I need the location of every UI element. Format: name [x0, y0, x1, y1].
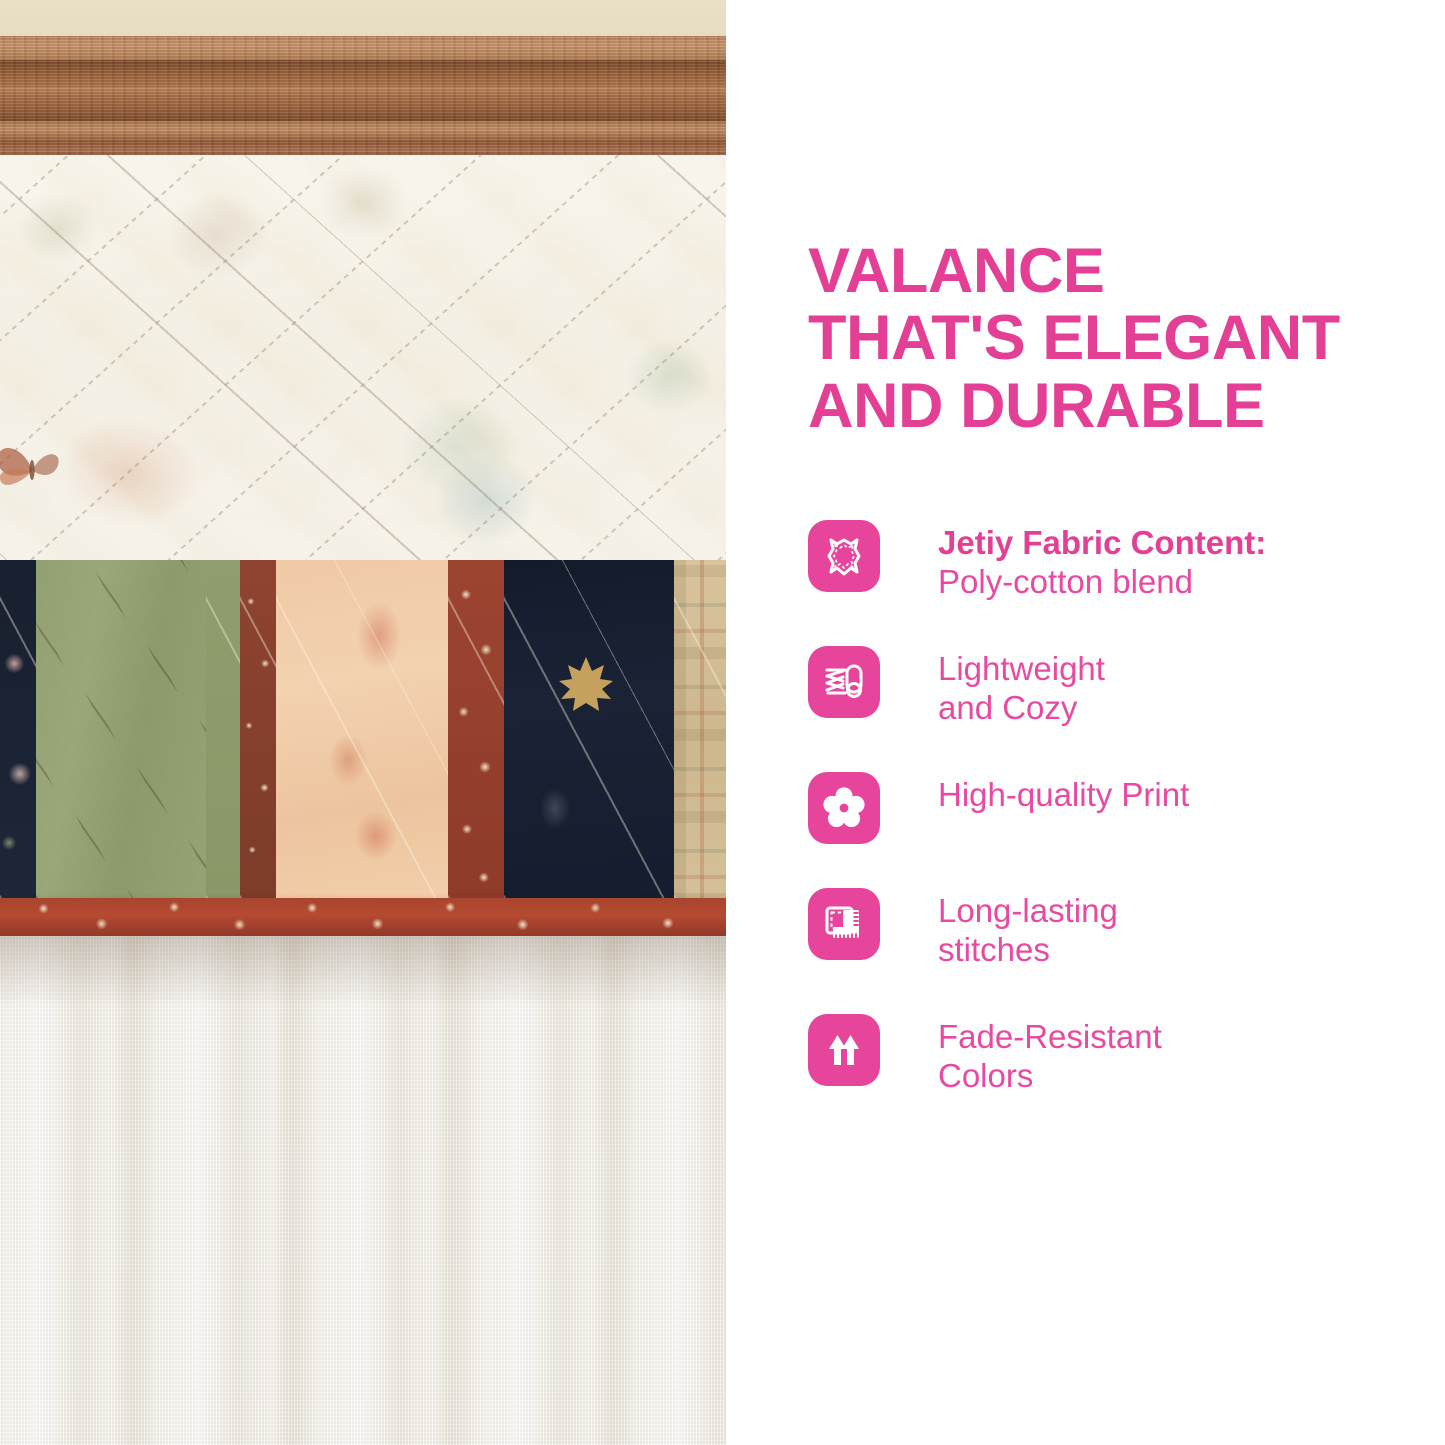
patch-rust-floral-strip — [448, 560, 504, 905]
feature-item-fade-resistant: Fade-Resistant Colors — [808, 1014, 1428, 1096]
feature-value: Long-lasting stitches — [938, 892, 1118, 968]
patch-navy-maple-leaf — [504, 560, 674, 905]
feature-item-print-quality: High-quality Print — [808, 772, 1428, 844]
leather-hide-stitched-icon — [808, 520, 880, 592]
diamond-quilting-stitches — [0, 155, 726, 560]
product-photo — [0, 0, 726, 1445]
feature-item-stitches: Long-lasting stitches — [808, 888, 1428, 970]
feature-value: Poly-cotton blend — [938, 563, 1193, 600]
feature-text-stitches: Long-lasting stitches — [938, 888, 1118, 970]
maple-leaf-motif — [555, 653, 617, 715]
sheer-white-curtain — [0, 936, 726, 1445]
feature-text-fabric-content: Jetiy Fabric Content: Poly-cotton blend — [938, 520, 1266, 602]
rod-vertical-grain — [0, 36, 726, 158]
feature-text-fade-resistant: Fade-Resistant Colors — [938, 1014, 1162, 1096]
butterfly-motif — [0, 433, 76, 507]
patch-peach-floral — [276, 560, 448, 905]
patch-rust-speckled-strip — [240, 560, 276, 905]
headline-line-3: AND DURABLE — [808, 373, 1408, 440]
quilted-cream-panel — [0, 155, 726, 560]
feature-item-fabric-content: Jetiy Fabric Content: Poly-cotton blend — [808, 520, 1428, 602]
headline-line-2: THAT'S ELEGANT — [808, 305, 1408, 372]
feature-value: High-quality Print — [938, 776, 1189, 813]
fabric-roll-icon — [808, 646, 880, 718]
info-panel: VALANCE THAT'S ELEGANT AND DURABLE Jetiy… — [726, 0, 1445, 1445]
rust-floral-binding — [0, 898, 726, 936]
feature-bold-label: Jetiy Fabric Content: — [938, 524, 1266, 561]
patchwork-band — [0, 560, 726, 905]
headline: VALANCE THAT'S ELEGANT AND DURABLE — [808, 238, 1408, 440]
feature-text-lightweight: Lightweight and Cozy — [938, 646, 1105, 728]
feature-text-print-quality: High-quality Print — [938, 772, 1189, 815]
feature-value: Lightweight and Cozy — [938, 650, 1105, 726]
headline-line-1: VALANCE — [808, 238, 1408, 305]
double-up-arrow-icon — [808, 1014, 880, 1086]
infographic-canvas: VALANCE THAT'S ELEGANT AND DURABLE Jetiy… — [0, 0, 1445, 1445]
curtain-linen-weave — [0, 936, 726, 1445]
feature-list: Jetiy Fabric Content: Poly-cotton blend — [808, 520, 1428, 1096]
patch-sage-green — [36, 560, 206, 905]
feature-item-lightweight: Lightweight and Cozy — [808, 646, 1428, 728]
wooden-cornice-rod — [0, 36, 726, 158]
patch-navy-floral-left — [0, 560, 36, 905]
stacked-fabric-stitches-icon — [808, 888, 880, 960]
feature-value: Fade-Resistant Colors — [938, 1018, 1162, 1094]
patch-sage-green-narrow — [206, 560, 240, 905]
wall-background — [0, 0, 726, 40]
flower-icon — [808, 772, 880, 844]
curtain-top-shadow — [0, 936, 726, 1006]
patch-tan-plaid — [674, 560, 726, 905]
